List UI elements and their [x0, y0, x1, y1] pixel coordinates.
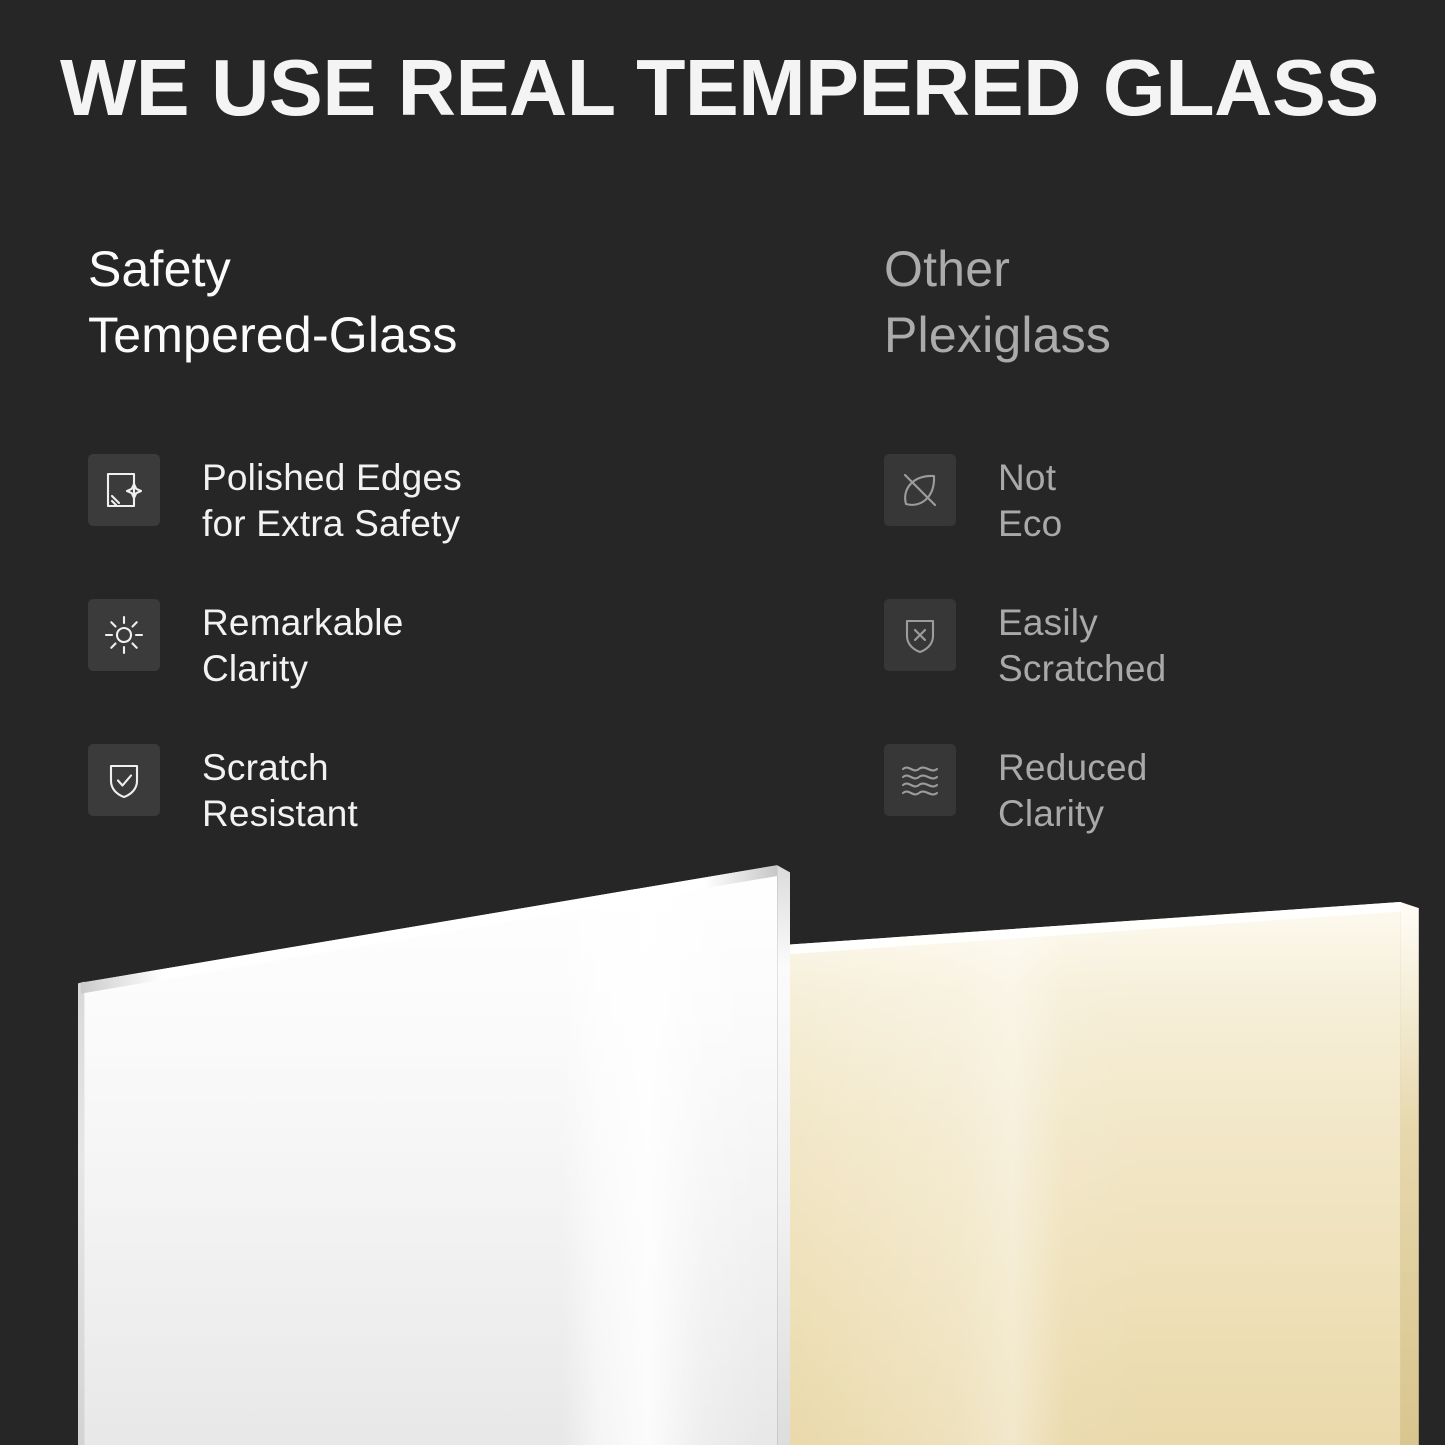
polished-glass-pane-icon: [88, 454, 160, 526]
column-heading: Safety Tempered-Glass: [88, 236, 848, 368]
wavy-lines-icon: [884, 744, 956, 816]
feature-label: Remarkable Clarity: [202, 595, 403, 692]
plexiglass-panel: [790, 902, 1445, 1445]
feature-item: Remarkable Clarity: [88, 595, 848, 740]
promo-graphic: WE USE REAL TEMPERED GLASS Safety Temper…: [0, 0, 1445, 1445]
column-heading: Other Plexiglass: [884, 236, 1424, 368]
sun-brightness-icon: [88, 599, 160, 671]
product-photo: [0, 840, 1445, 1445]
feature-item: Not Eco: [884, 450, 1424, 595]
feature-label: Easily Scratched: [998, 595, 1166, 692]
feature-list: Not Eco Easily Scratched: [884, 450, 1424, 885]
tempered-glass-panel: [78, 858, 790, 1445]
feature-list: Polished Edges for Extra Safety Remarkab…: [88, 450, 848, 885]
column-other-plexiglass: Other Plexiglass Not Eco: [884, 236, 1424, 368]
feature-label: Scratch Resistant: [202, 740, 358, 837]
feature-label: Reduced Clarity: [998, 740, 1148, 837]
leaf-slashed-icon: [884, 454, 956, 526]
feature-label: Not Eco: [998, 450, 1062, 547]
page-title: WE USE REAL TEMPERED GLASS: [60, 42, 1413, 134]
feature-item: Polished Edges for Extra Safety: [88, 450, 848, 595]
shield-x-icon: [884, 599, 956, 671]
feature-label: Polished Edges for Extra Safety: [202, 450, 462, 547]
column-safety-tempered-glass: Safety Tempered-Glass Polished Edges for…: [88, 236, 848, 368]
shield-check-icon: [88, 744, 160, 816]
feature-item: Easily Scratched: [884, 595, 1424, 740]
